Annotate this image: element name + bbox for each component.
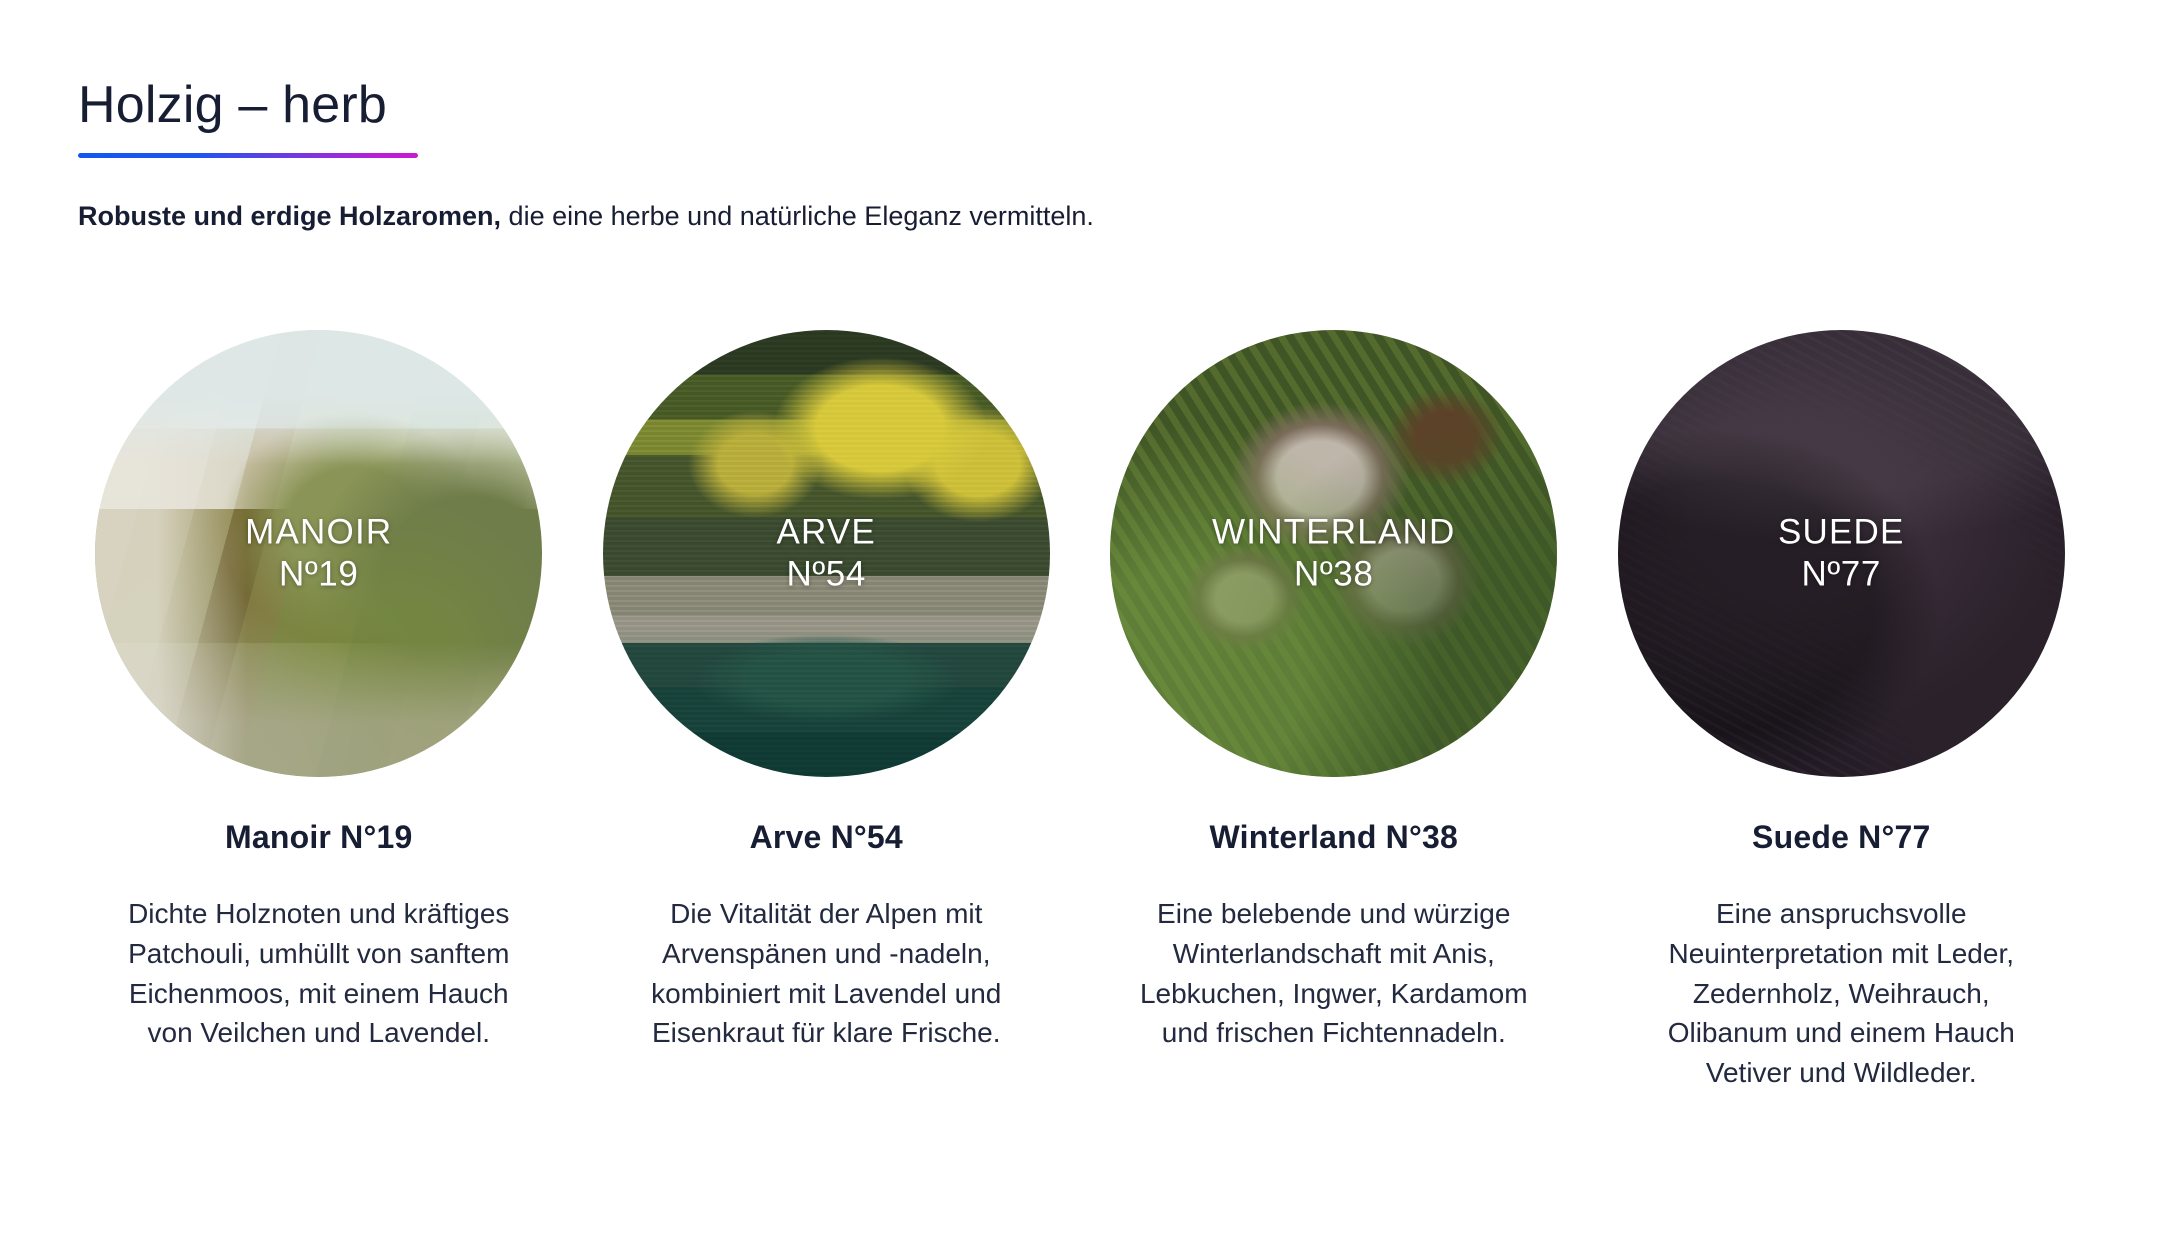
fragrance-family-page: Holzig – herb Robuste und erdige Holzaro… xyxy=(0,0,2160,1258)
product-image-wrap[interactable]: WINTERLAND Nº38 xyxy=(1110,330,1557,777)
card-description: Die Vitalität der Alpen mit Arvenspänen … xyxy=(616,894,1036,1053)
product-image-wrap[interactable]: ARVE Nº54 xyxy=(603,330,1050,777)
fragrance-card[interactable]: ARVE Nº54 Arve N°54 Die Vitalität der Al… xyxy=(586,330,1068,1093)
card-title: Arve N°54 xyxy=(750,819,903,856)
card-description: Eine belebende und würzige Winterlandsch… xyxy=(1124,894,1544,1053)
fragrance-card[interactable]: MANOIR Nº19 Manoir N°19 Dichte Holznoten… xyxy=(78,330,560,1093)
card-title: Winterland N°38 xyxy=(1210,819,1458,856)
card-title: Suede N°77 xyxy=(1752,819,1930,856)
subtitle-rest: die eine herbe und natürliche Eleganz ve… xyxy=(501,201,1094,231)
card-title: Manoir N°19 xyxy=(225,819,412,856)
title-gradient-rule xyxy=(78,153,418,158)
arve-photo-circle[interactable] xyxy=(603,330,1050,777)
page-header: Holzig – herb xyxy=(78,78,418,158)
winterland-photo-circle[interactable] xyxy=(1110,330,1557,777)
card-description: Dichte Holznoten und kräftiges Patchouli… xyxy=(109,894,529,1053)
fragrance-card[interactable]: SUEDE Nº77 Suede N°77 Eine anspruchsvoll… xyxy=(1601,330,2083,1093)
fragrance-card-grid: MANOIR Nº19 Manoir N°19 Dichte Holznoten… xyxy=(78,330,2082,1093)
product-image-wrap[interactable]: SUEDE Nº77 xyxy=(1618,330,2065,777)
suede-photo-circle[interactable] xyxy=(1618,330,2065,777)
page-subtitle: Robuste und erdige Holzaromen, die eine … xyxy=(78,198,1094,234)
fragrance-card[interactable]: WINTERLAND Nº38 Winterland N°38 Eine bel… xyxy=(1093,330,1575,1093)
manoir-photo-circle[interactable] xyxy=(95,330,542,777)
product-image-wrap[interactable]: MANOIR Nº19 xyxy=(95,330,542,777)
subtitle-lead: Robuste und erdige Holzaromen, xyxy=(78,201,501,231)
page-title: Holzig – herb xyxy=(78,78,418,133)
card-description: Eine anspruchsvolle Neuinterpretation mi… xyxy=(1631,894,2051,1093)
